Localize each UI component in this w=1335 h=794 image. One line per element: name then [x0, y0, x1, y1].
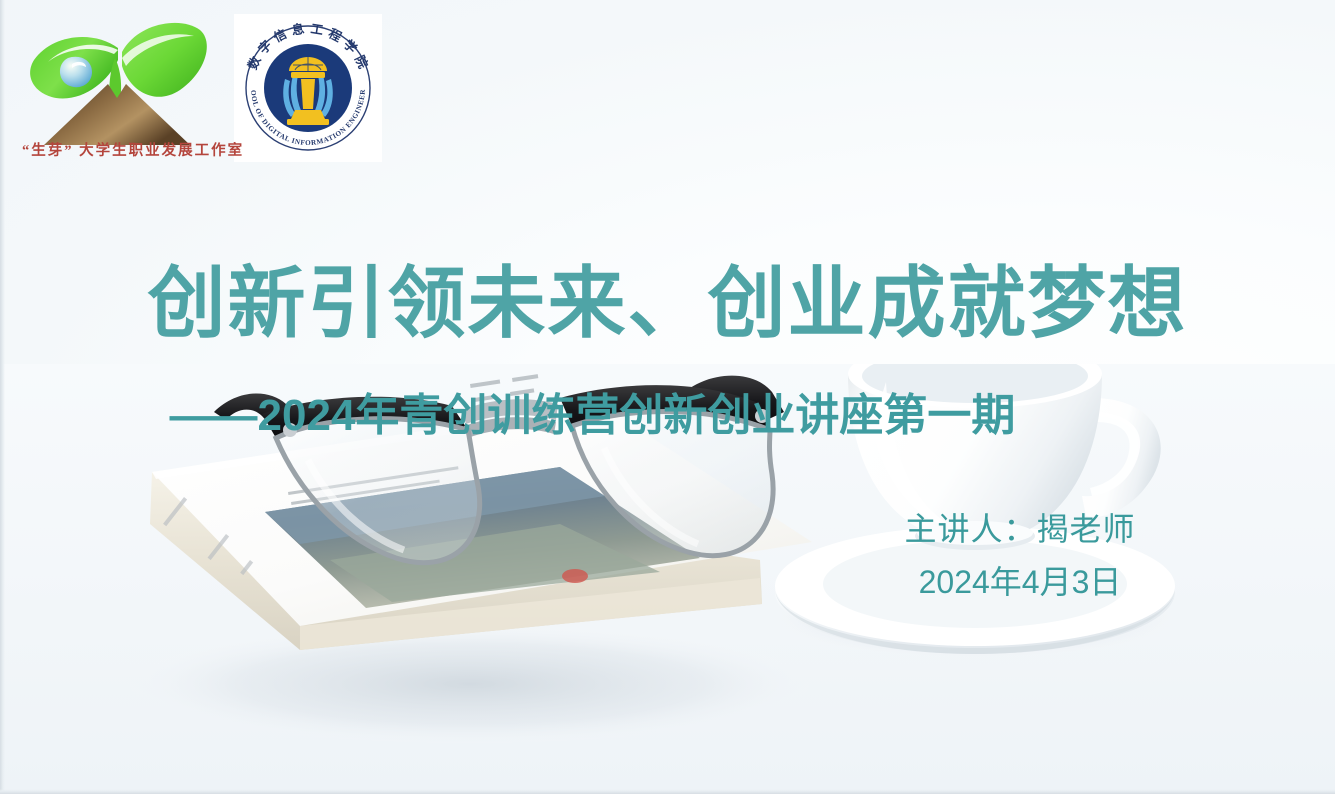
speaker-name: 主讲人：揭老师: [880, 508, 1160, 551]
presentation-slide: “生芽” 大学生职业发展工作室: [0, 0, 1335, 794]
sprout-studio-logo: “生芽” 大学生职业发展工作室: [22, 14, 212, 164]
page-subtitle: ——2024年青创训练营创新创业讲座第一期: [0, 392, 1335, 440]
slide-left-edge: [0, 0, 5, 794]
logo-row: “生芽” 大学生职业发展工作室: [22, 14, 382, 164]
sprout-logo-caption: “生芽” 大学生职业发展工作室: [22, 139, 212, 160]
school-emblem-logo: 数 字 信 息 工 程 学 院 SCHOOL OF DIGITAL INFORM…: [234, 14, 382, 162]
speaker-block: 主讲人：揭老师 2024年4月3日: [880, 508, 1160, 604]
sprout-icon: [22, 14, 212, 146]
slide-bottom-edge: [0, 789, 1335, 794]
event-date: 2024年4月3日: [880, 561, 1160, 604]
page-title: 创新引领未来、创业成就梦想: [0, 262, 1335, 345]
school-emblem-icon: 数 字 信 息 工 程 学 院 SCHOOL OF DIGITAL INFORM…: [237, 17, 379, 159]
